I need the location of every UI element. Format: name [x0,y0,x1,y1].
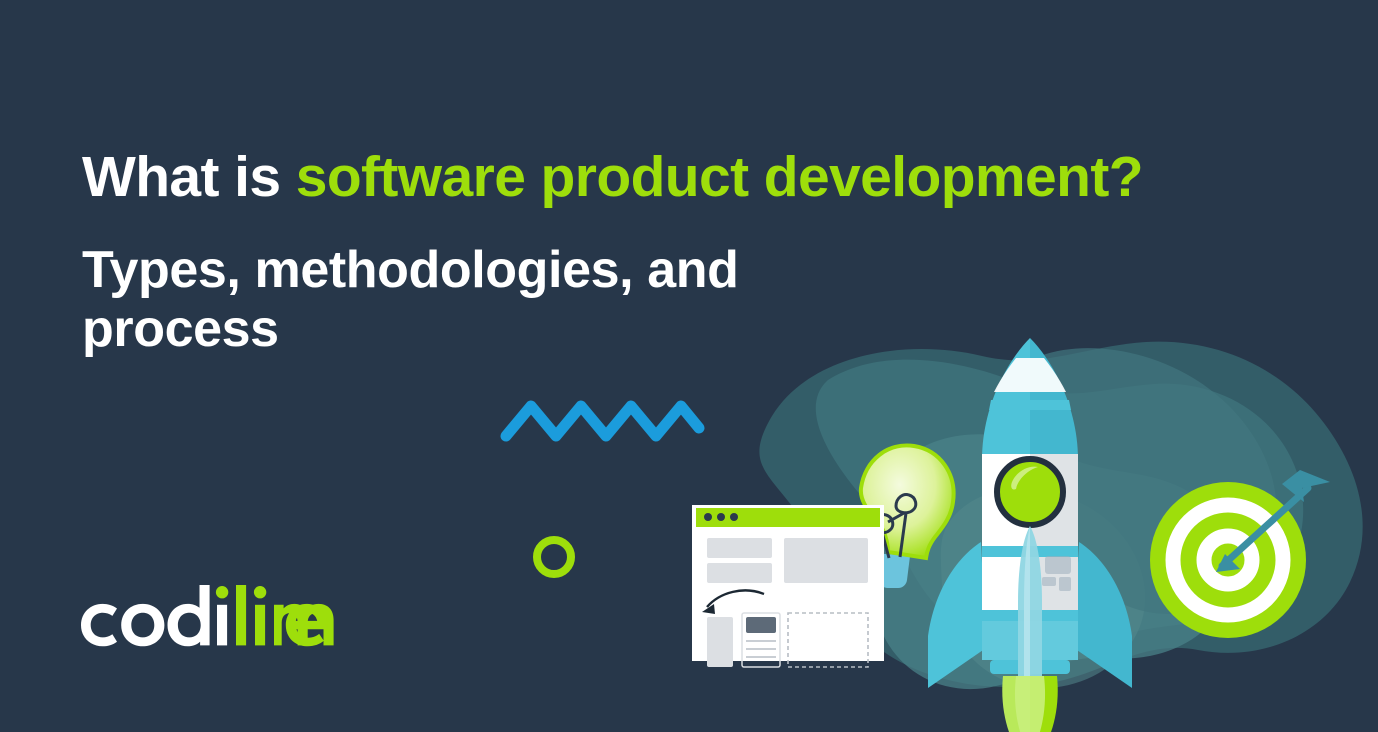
headline-accent: software product development? [296,145,1143,209]
hero-illustration [660,320,1378,732]
browser-dot [704,513,712,521]
codilime-logo[interactable] [80,585,350,655]
browser-dot [730,513,738,521]
circle-outline-decoration [533,536,575,578]
page-title: What is software product development? [82,148,862,208]
browser-window-mockup [692,505,884,667]
codilime-logo-mark [80,585,350,655]
browser-dot [717,513,725,521]
headline-lead: What is [82,145,296,209]
banner: What is software product development? Ty… [0,0,1378,732]
